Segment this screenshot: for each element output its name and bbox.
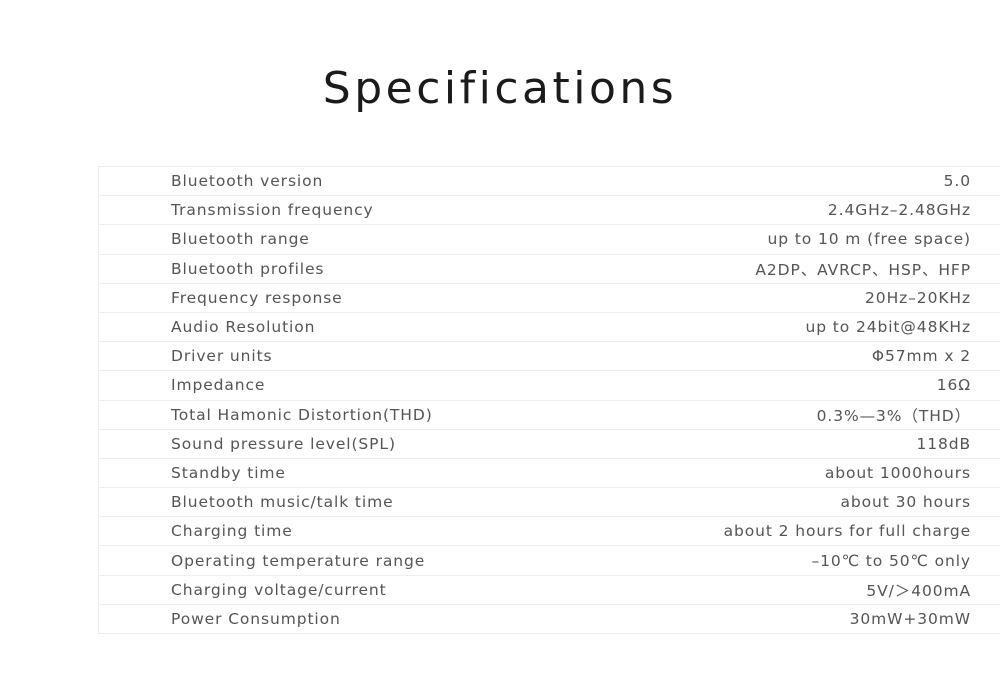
table-row: Total Hamonic Distortion(THD) 0.3%—3%（TH… [99, 400, 1000, 429]
table-row: Bluetooth version 5.0 [99, 167, 1000, 196]
table-row: Bluetooth profiles A2DP、AVRCP、HSP、HFP [99, 254, 1000, 283]
spec-value: 16Ω [591, 371, 1000, 400]
spec-value: 20Hz–20KHz [591, 283, 1000, 312]
spec-label: Bluetooth version [99, 167, 592, 196]
table-row: Sound pressure level(SPL) 118dB [99, 429, 1000, 458]
table-row: Impedance 16Ω [99, 371, 1000, 400]
table-row: Bluetooth range up to 10 m (free space) [99, 225, 1000, 254]
spec-value: about 1000hours [591, 458, 1000, 487]
table-row: Frequency response 20Hz–20KHz [99, 283, 1000, 312]
spec-value: 0.3%—3%（THD） [591, 400, 1000, 429]
spec-value: Φ57mm x 2 [591, 342, 1000, 371]
spec-label: Frequency response [99, 283, 592, 312]
spec-value: about 30 hours [591, 488, 1000, 517]
table-row: Bluetooth music/talk time about 30 hours [99, 488, 1000, 517]
specifications-table: Bluetooth version 5.0 Transmission frequ… [98, 166, 1000, 634]
spec-value: 5.0 [591, 167, 1000, 196]
spec-label: Bluetooth range [99, 225, 592, 254]
table-row: Transmission frequency 2.4GHz–2.48GHz [99, 196, 1000, 225]
table-row: Driver units Φ57mm x 2 [99, 342, 1000, 371]
spec-label: Operating temperature range [99, 546, 592, 575]
spec-label: Bluetooth music/talk time [99, 488, 592, 517]
table-row: Operating temperature range –10℃ to 50℃ … [99, 546, 1000, 575]
spec-label: Sound pressure level(SPL) [99, 429, 592, 458]
table-row: Power Consumption 30mW+30mW [99, 604, 1000, 633]
spec-value: 5V/＞400mA [591, 575, 1000, 604]
spec-value: 118dB [591, 429, 1000, 458]
spec-value: 2.4GHz–2.48GHz [591, 196, 1000, 225]
spec-label: Total Hamonic Distortion(THD) [99, 400, 592, 429]
specifications-table-body: Bluetooth version 5.0 Transmission frequ… [99, 167, 1000, 634]
spec-label: Power Consumption [99, 604, 592, 633]
table-row: Standby time about 1000hours [99, 458, 1000, 487]
spec-value: A2DP、AVRCP、HSP、HFP [591, 254, 1000, 283]
spec-label: Driver units [99, 342, 592, 371]
table-row: Audio Resolution up to 24bit@48KHz [99, 312, 1000, 341]
spec-label: Audio Resolution [99, 312, 592, 341]
spec-label: Charging voltage/current [99, 575, 592, 604]
spec-label: Charging time [99, 517, 592, 546]
spec-value: 30mW+30mW [591, 604, 1000, 633]
spec-value: up to 24bit@48KHz [591, 312, 1000, 341]
specifications-page: Specifications Bluetooth version 5.0 Tra… [0, 0, 1000, 682]
table-row: Charging time about 2 hours for full cha… [99, 517, 1000, 546]
page-title: Specifications [0, 62, 1000, 116]
spec-value: –10℃ to 50℃ only [591, 546, 1000, 575]
spec-label: Bluetooth profiles [99, 254, 592, 283]
spec-label: Impedance [99, 371, 592, 400]
table-row: Charging voltage/current 5V/＞400mA [99, 575, 1000, 604]
spec-label: Standby time [99, 458, 592, 487]
spec-value: about 2 hours for full charge [591, 517, 1000, 546]
spec-label: Transmission frequency [99, 196, 592, 225]
spec-value: up to 10 m (free space) [591, 225, 1000, 254]
